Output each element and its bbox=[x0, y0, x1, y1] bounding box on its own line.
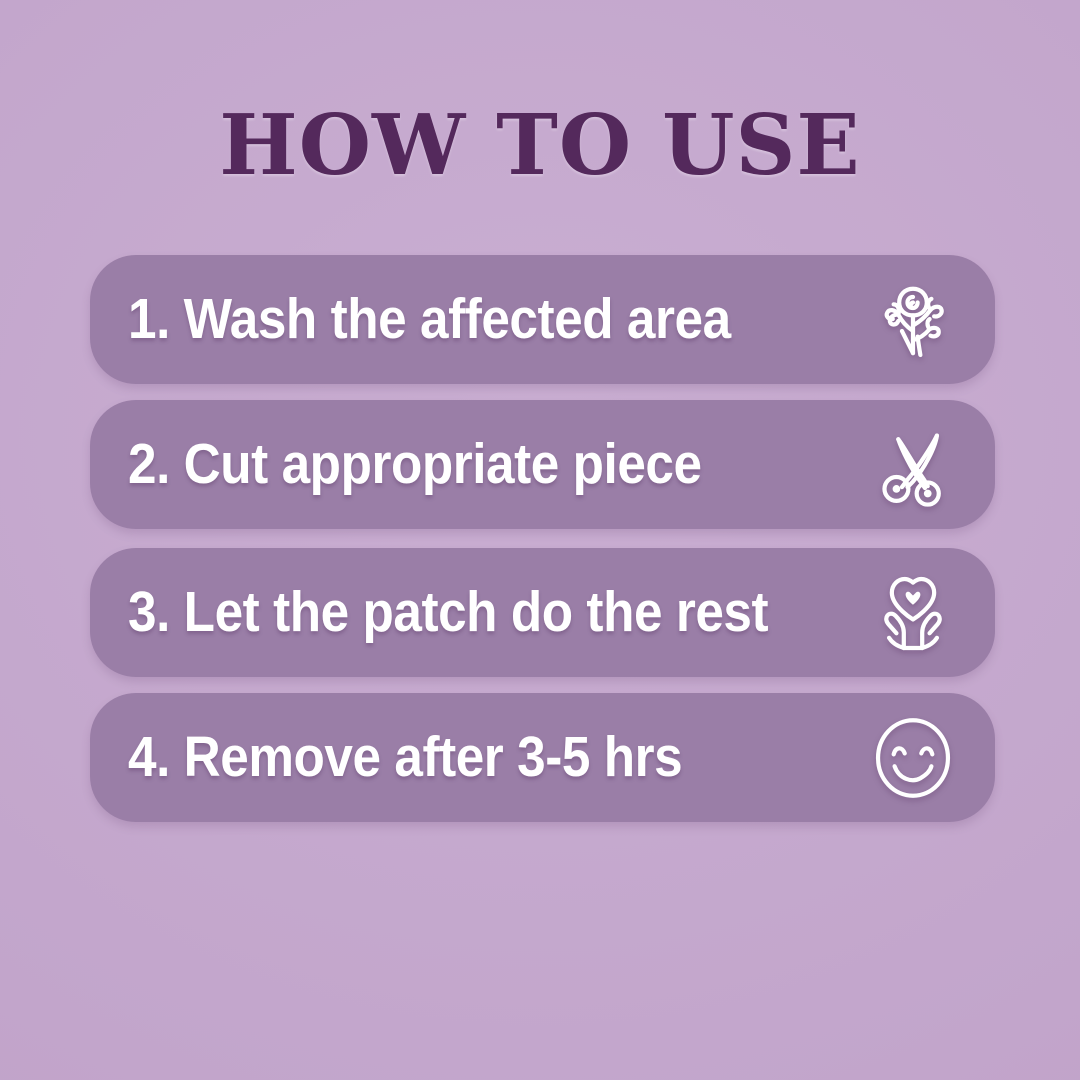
step-3-label: 3. Let the patch do the rest bbox=[128, 584, 782, 641]
hands-holding-heart-icon bbox=[865, 565, 961, 661]
step-item-4: 4. Remove after 3-5 hrs bbox=[90, 693, 995, 822]
step-item-3: 3. Let the patch do the rest bbox=[90, 548, 995, 677]
flower-bouquet-icon bbox=[865, 272, 961, 368]
step-item-2: 2. Cut appropriate piece bbox=[90, 400, 995, 529]
step-item-1: 1. Wash the affected area bbox=[90, 255, 995, 384]
page-title-container: HOW TO USE bbox=[0, 104, 1080, 187]
smiley-face-icon bbox=[865, 710, 961, 806]
page-title: HOW TO USE bbox=[219, 104, 860, 187]
how-to-use-poster: HOW TO USE 1. Wash the affected area bbox=[0, 0, 1080, 1080]
step-2-label: 2. Cut appropriate piece bbox=[128, 436, 782, 493]
step-1-label: 1. Wash the affected area bbox=[128, 291, 782, 348]
step-4-label: 4. Remove after 3-5 hrs bbox=[128, 729, 782, 786]
scissors-icon bbox=[865, 417, 961, 513]
